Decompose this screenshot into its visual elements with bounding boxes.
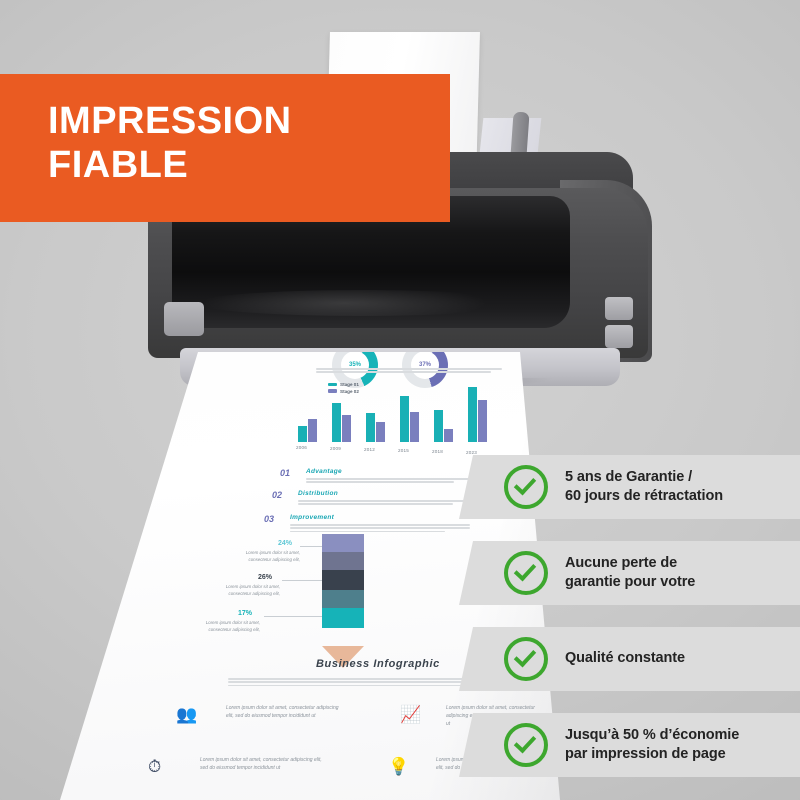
pyramid-text-2: Lorem ipsum dolor sit amet, consectetur …	[206, 584, 280, 597]
list-item-01-number: 01	[280, 468, 290, 478]
callout-quality-text: Qualité constante	[565, 649, 685, 668]
headline-line-2: FIABLE	[48, 144, 292, 188]
printer-side-button-1[interactable]	[605, 297, 633, 320]
feature-item-1-text: Lorem ipsum dolor sit amet, consectetur …	[226, 704, 344, 720]
people-group-icon: 👥	[176, 706, 197, 723]
callout-quality: Qualité constante	[485, 627, 800, 691]
bar-stage01-2018	[434, 410, 443, 442]
x-axis-label-2015: 2015	[398, 448, 409, 453]
pyramid-leader-2	[282, 580, 324, 581]
body-paragraph-placeholder	[228, 678, 494, 688]
lid-highlight	[196, 290, 526, 316]
x-axis-label-2012: 2012	[364, 447, 375, 452]
bar-stage02-2012	[376, 422, 385, 442]
callout-no-warranty-loss: Aucune perte de garantie pour votre	[485, 541, 800, 605]
pyramid-value-3: 17%	[238, 610, 252, 617]
x-axis-label-2023: 2023	[466, 450, 477, 455]
callout-savings-line-1: Jusqu’à 50 % d’économie	[565, 726, 739, 745]
bar-stage01-2012	[366, 413, 375, 442]
bar-stage01-2015	[400, 396, 409, 442]
callout-no-warranty-loss-line-2: garantie pour votre	[565, 573, 695, 592]
list-item-03-number: 03	[264, 514, 274, 524]
callout-savings-line-2: par impression de page	[565, 745, 739, 764]
list-item-01-title: Advantage	[306, 468, 342, 475]
callout-savings: Jusqu’à 50 % d’économie par impression d…	[485, 713, 800, 777]
check-circle-icon	[504, 637, 548, 681]
bar-stage02-2015	[410, 412, 419, 442]
list-item-02-title: Distribution	[298, 490, 338, 497]
x-axis-label-2009: 2009	[330, 446, 341, 451]
x-axis-label-2018: 2018	[432, 449, 443, 454]
list-item-02-number: 02	[272, 490, 282, 500]
infographic-big-title: Business Infographic	[316, 658, 440, 670]
printer-power-button[interactable]	[164, 302, 204, 336]
pencil-graphic	[322, 534, 364, 646]
clock-phone-icon: ⏱	[148, 758, 161, 775]
bar-stage02-2018	[444, 429, 453, 442]
pyramid-value-2: 26%	[258, 574, 272, 581]
callout-warranty-line-2: 60 jours de rétractation	[565, 487, 723, 506]
headline-banner: IMPRESSION FIABLE	[0, 74, 450, 222]
callout-warranty: 5 ans de Garantie / 60 jours de rétracta…	[485, 455, 800, 519]
check-circle-icon	[504, 723, 548, 767]
pyramid-leader-3	[264, 616, 322, 617]
pyramid-text-1: Lorem ipsum dolor sit amet, consectetur …	[226, 550, 300, 563]
donut-chart-2-value: 37%	[411, 351, 439, 379]
list-item-03-title: Improvement	[290, 514, 334, 521]
callout-no-warranty-loss-text: Aucune perte de garantie pour votre	[565, 554, 695, 592]
callout-warranty-line-1: 5 ans de Garantie /	[565, 468, 723, 487]
x-axis-label-2006: 2006	[296, 445, 307, 450]
check-circle-icon	[504, 465, 548, 509]
bar-stage01-2009	[332, 403, 341, 442]
lightbulb-icon: 💡	[388, 758, 409, 775]
bar-stage02-2006	[308, 419, 317, 442]
bar-stage02-2023	[478, 400, 487, 442]
headline-line-1: IMPRESSION	[48, 100, 292, 144]
donut-chart-1-value: 35%	[341, 351, 369, 379]
bar-chart-growth-icon: 📈	[400, 706, 421, 723]
check-circle-icon	[504, 551, 548, 595]
intro-paragraph-placeholder	[316, 368, 502, 375]
pyramid-text-3: Lorem ipsum dolor sit amet, consectetur …	[186, 620, 260, 633]
callout-quality-line-1: Qualité constante	[565, 649, 685, 668]
bar-stage02-2009	[342, 415, 351, 442]
callout-no-warranty-loss-line-1: Aucune perte de	[565, 554, 695, 573]
bar-stage01-2023	[468, 387, 477, 442]
printer-side-button-2[interactable]	[605, 325, 633, 348]
pyramid-value-1: 24%	[278, 540, 292, 547]
headline-text: IMPRESSION FIABLE	[48, 100, 292, 187]
callout-warranty-text: 5 ans de Garantie / 60 jours de rétracta…	[565, 468, 723, 506]
bar-chart	[296, 380, 506, 442]
feature-item-3-text: Lorem ipsum dolor sit amet, consectetur …	[200, 756, 326, 772]
bar-stage01-2006	[298, 426, 307, 442]
callout-savings-text: Jusqu’à 50 % d’économie par impression d…	[565, 726, 739, 764]
product-marketing-image: Banner Infographics 35% 37% Stage 01 Sta…	[0, 0, 800, 800]
